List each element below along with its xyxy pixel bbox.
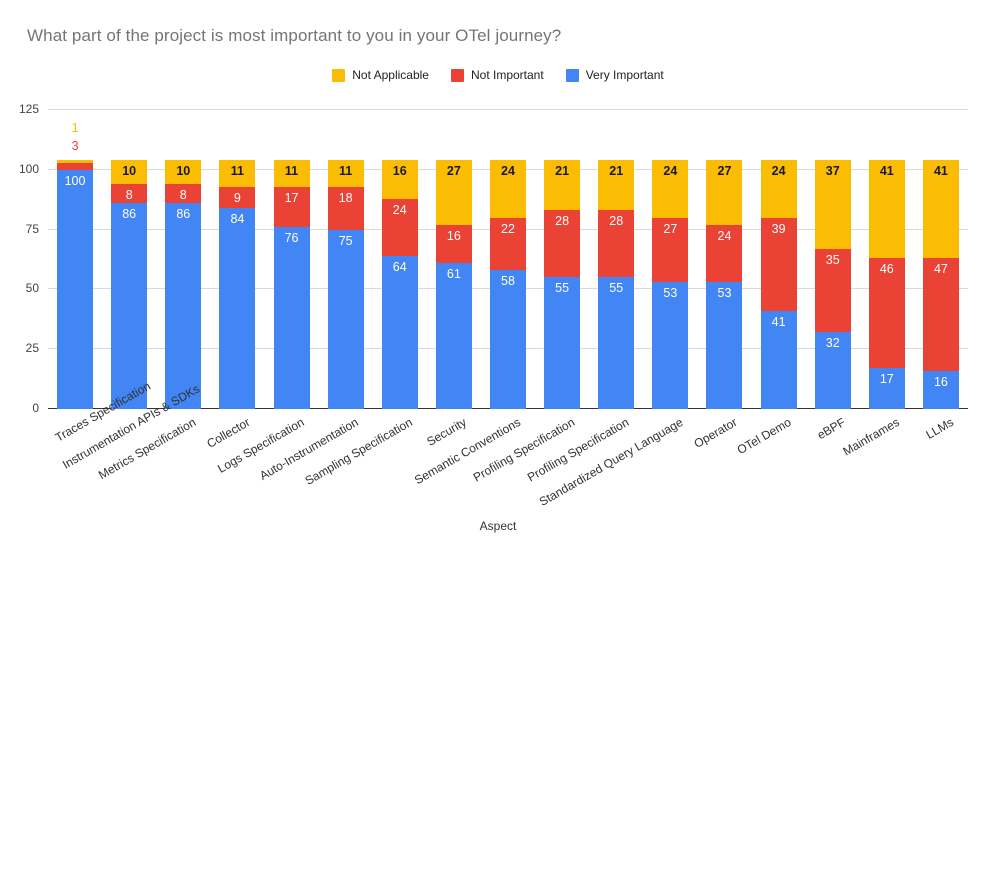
- bar-group[interactable]: 84911: [219, 110, 255, 409]
- bar-group[interactable]: 582224: [490, 110, 526, 409]
- bar-value-label: 3: [57, 140, 93, 153]
- bar-segment[interactable]: 16: [436, 225, 472, 263]
- bar-value-label: 21: [609, 160, 623, 178]
- legend-swatch-icon: [566, 69, 579, 82]
- bar-value-label: 24: [772, 160, 786, 178]
- bar-segment[interactable]: 41: [869, 160, 905, 258]
- bar-value-label: 41: [934, 160, 948, 178]
- legend-swatch-icon: [451, 69, 464, 82]
- bar-segment[interactable]: 46: [869, 258, 905, 368]
- bar-segment[interactable]: 24: [706, 225, 742, 282]
- bar-value-label: 41: [772, 311, 786, 329]
- bar-value-label: 39: [772, 218, 786, 236]
- legend-item[interactable]: Not Important: [451, 68, 544, 82]
- x-axis-labels: Traces SpecificationInstrumentation APIs…: [48, 409, 968, 509]
- bar-segment[interactable]: 16: [382, 160, 418, 198]
- bar-segment[interactable]: 24: [382, 199, 418, 256]
- bar-segment[interactable]: 53: [652, 282, 688, 409]
- bar-value-label: 35: [826, 249, 840, 267]
- bar-segment[interactable]: 21: [598, 160, 634, 210]
- bar-segment[interactable]: 16: [923, 371, 959, 409]
- bar-value-label: 1: [57, 122, 93, 135]
- bar-segment[interactable]: [57, 163, 93, 170]
- bar-value-label: 27: [718, 160, 732, 178]
- chart-legend: Not ApplicableNot ImportantVery Importan…: [0, 68, 996, 82]
- bar-value-label: 53: [663, 282, 677, 300]
- bar-segment[interactable]: 17: [274, 187, 310, 228]
- bar-value-label: 24: [501, 160, 515, 178]
- bar-value-label: 27: [447, 160, 461, 178]
- bar-segment[interactable]: 37: [815, 160, 851, 249]
- bar-value-label: 17: [285, 187, 299, 205]
- bar-segment[interactable]: 55: [598, 277, 634, 409]
- bar-segment[interactable]: 11: [328, 160, 364, 186]
- bar-value-label: 47: [934, 258, 948, 276]
- bar-group[interactable]: 323537: [815, 110, 851, 409]
- bar-group[interactable]: 761711: [274, 110, 310, 409]
- bar-segment[interactable]: 27: [652, 218, 688, 283]
- bar-segment[interactable]: 32: [815, 332, 851, 409]
- bar-segment[interactable]: 10: [165, 160, 201, 184]
- bar-segment[interactable]: 86: [165, 203, 201, 409]
- bar-segment[interactable]: 24: [490, 160, 526, 217]
- legend-item-label: Not Important: [471, 68, 544, 82]
- bar-segment[interactable]: 8: [165, 184, 201, 203]
- legend-item[interactable]: Very Important: [566, 68, 664, 82]
- bar-value-label: 16: [393, 160, 407, 178]
- bar-value-label: 22: [501, 218, 515, 236]
- bar-group[interactable]: 552821: [598, 110, 634, 409]
- bar-segment[interactable]: [57, 160, 93, 162]
- bar-group[interactable]: 532427: [706, 110, 742, 409]
- bar-value-label: 21: [555, 160, 569, 178]
- y-axis-tick-label: 75: [26, 222, 39, 236]
- bar-segment[interactable]: 24: [761, 160, 797, 217]
- y-axis-tick-label: 0: [32, 401, 39, 415]
- bar-value-label: 64: [393, 256, 407, 274]
- y-axis-tick-label: 50: [26, 281, 39, 295]
- bar-value-label: 10: [122, 160, 136, 178]
- bar-value-label: 58: [501, 270, 515, 288]
- bar-segment[interactable]: 47: [923, 258, 959, 370]
- bar-segment[interactable]: 64: [382, 256, 418, 409]
- bar-segment[interactable]: 41: [761, 311, 797, 409]
- bar-value-label: 24: [718, 225, 732, 243]
- bar-segment[interactable]: 10: [111, 160, 147, 184]
- bar-value-label: 37: [826, 160, 840, 178]
- bar-segment[interactable]: 28: [544, 210, 580, 277]
- y-axis-tick-label: 25: [26, 341, 39, 355]
- bar-value-label: 86: [176, 203, 190, 221]
- bar-segment[interactable]: 22: [490, 218, 526, 271]
- bar-group[interactable]: 164741: [923, 110, 959, 409]
- bar-value-label: 9: [234, 187, 241, 205]
- bar-group[interactable]: 552821: [544, 110, 580, 409]
- bar-value-label: 8: [180, 184, 187, 202]
- bar-value-label: 16: [447, 225, 461, 243]
- bar-value-label: 11: [285, 160, 298, 178]
- bar-value-label: 55: [555, 277, 569, 295]
- bar-group[interactable]: 751811: [328, 110, 364, 409]
- bar-segment[interactable]: 27: [436, 160, 472, 225]
- bar-group[interactable]: 611627: [436, 110, 472, 409]
- bar-group[interactable]: 532724: [652, 110, 688, 409]
- bar-segment[interactable]: 35: [815, 249, 851, 333]
- bar-value-label: 24: [393, 199, 407, 217]
- bar-segment[interactable]: 75: [328, 230, 364, 409]
- bar-value-label: 53: [718, 282, 732, 300]
- plot-area: 0255075100125 10031868108681084911761711…: [48, 110, 968, 409]
- bar-value-label: 100: [65, 170, 86, 188]
- bar-segment[interactable]: 39: [761, 218, 797, 311]
- bar-value-label: 76: [285, 227, 299, 245]
- bar-value-label: 28: [609, 210, 623, 228]
- bar-segment[interactable]: 76: [274, 227, 310, 409]
- bar-segment[interactable]: 21: [544, 160, 580, 210]
- bar-segment[interactable]: 18: [328, 187, 364, 230]
- bar-segment[interactable]: 55: [544, 277, 580, 409]
- legend-item-label: Not Applicable: [352, 68, 429, 82]
- chart-title: What part of the project is most importa…: [27, 26, 561, 46]
- bar-group[interactable]: 413924: [761, 110, 797, 409]
- y-axis-tick-label: 100: [19, 162, 39, 176]
- bar-value-label: 86: [122, 203, 136, 221]
- bar-value-label: 11: [231, 160, 244, 178]
- bar-value-label: 61: [447, 263, 461, 281]
- bar-segment[interactable]: 27: [706, 160, 742, 225]
- bar-value-label: 27: [663, 218, 677, 236]
- bar-segment[interactable]: 28: [598, 210, 634, 277]
- bar-value-label: 17: [880, 368, 894, 386]
- legend-item[interactable]: Not Applicable: [332, 68, 429, 82]
- legend-item-label: Very Important: [586, 68, 664, 82]
- bar-segment[interactable]: 84: [219, 208, 255, 409]
- bar-group[interactable]: 174641: [869, 110, 905, 409]
- bar-value-label: 84: [230, 208, 244, 226]
- x-axis-title: Aspect: [0, 519, 996, 533]
- bar-value-label: 8: [126, 184, 133, 202]
- bar-segment[interactable]: 41: [923, 160, 959, 258]
- bar-segment[interactable]: 53: [706, 282, 742, 409]
- bar-segment[interactable]: 24: [652, 160, 688, 217]
- bar-segment[interactable]: 17: [869, 368, 905, 409]
- bar-segment[interactable]: 11: [219, 160, 255, 186]
- bar-group[interactable]: 10031: [57, 110, 93, 409]
- bar-value-label: 28: [555, 210, 569, 228]
- bar-segment[interactable]: 86: [111, 203, 147, 409]
- bar-group[interactable]: 86810: [165, 110, 201, 409]
- bar-value-label: 11: [339, 160, 352, 178]
- legend-swatch-icon: [332, 69, 345, 82]
- bar-value-label: 55: [609, 277, 623, 295]
- bar-segment[interactable]: 58: [490, 270, 526, 409]
- y-axis-tick-label: 125: [19, 102, 39, 116]
- bar-value-label: 16: [934, 371, 948, 389]
- bar-value-label: 46: [880, 258, 894, 276]
- x-axis-tick-label: Traces Specification: [53, 415, 90, 445]
- bar-value-label: 24: [663, 160, 677, 178]
- bar-group[interactable]: 86810: [111, 110, 147, 409]
- bar-segment[interactable]: 100: [57, 170, 93, 409]
- bar-value-label: 41: [880, 160, 894, 178]
- bar-value-label: 32: [826, 332, 840, 350]
- bar-segment[interactable]: 9: [219, 187, 255, 209]
- bar-segment[interactable]: 11: [274, 160, 310, 186]
- bar-segment[interactable]: 8: [111, 184, 147, 203]
- bar-segment[interactable]: 61: [436, 263, 472, 409]
- chart-container: What part of the project is most importa…: [0, 0, 996, 565]
- bar-series-container: 1003186810868108491176171175181164241661…: [48, 110, 968, 409]
- bar-value-label: 10: [176, 160, 190, 178]
- bar-value-label: 75: [339, 230, 353, 248]
- bar-value-label: 18: [339, 187, 353, 205]
- bar-group[interactable]: 642416: [382, 110, 418, 409]
